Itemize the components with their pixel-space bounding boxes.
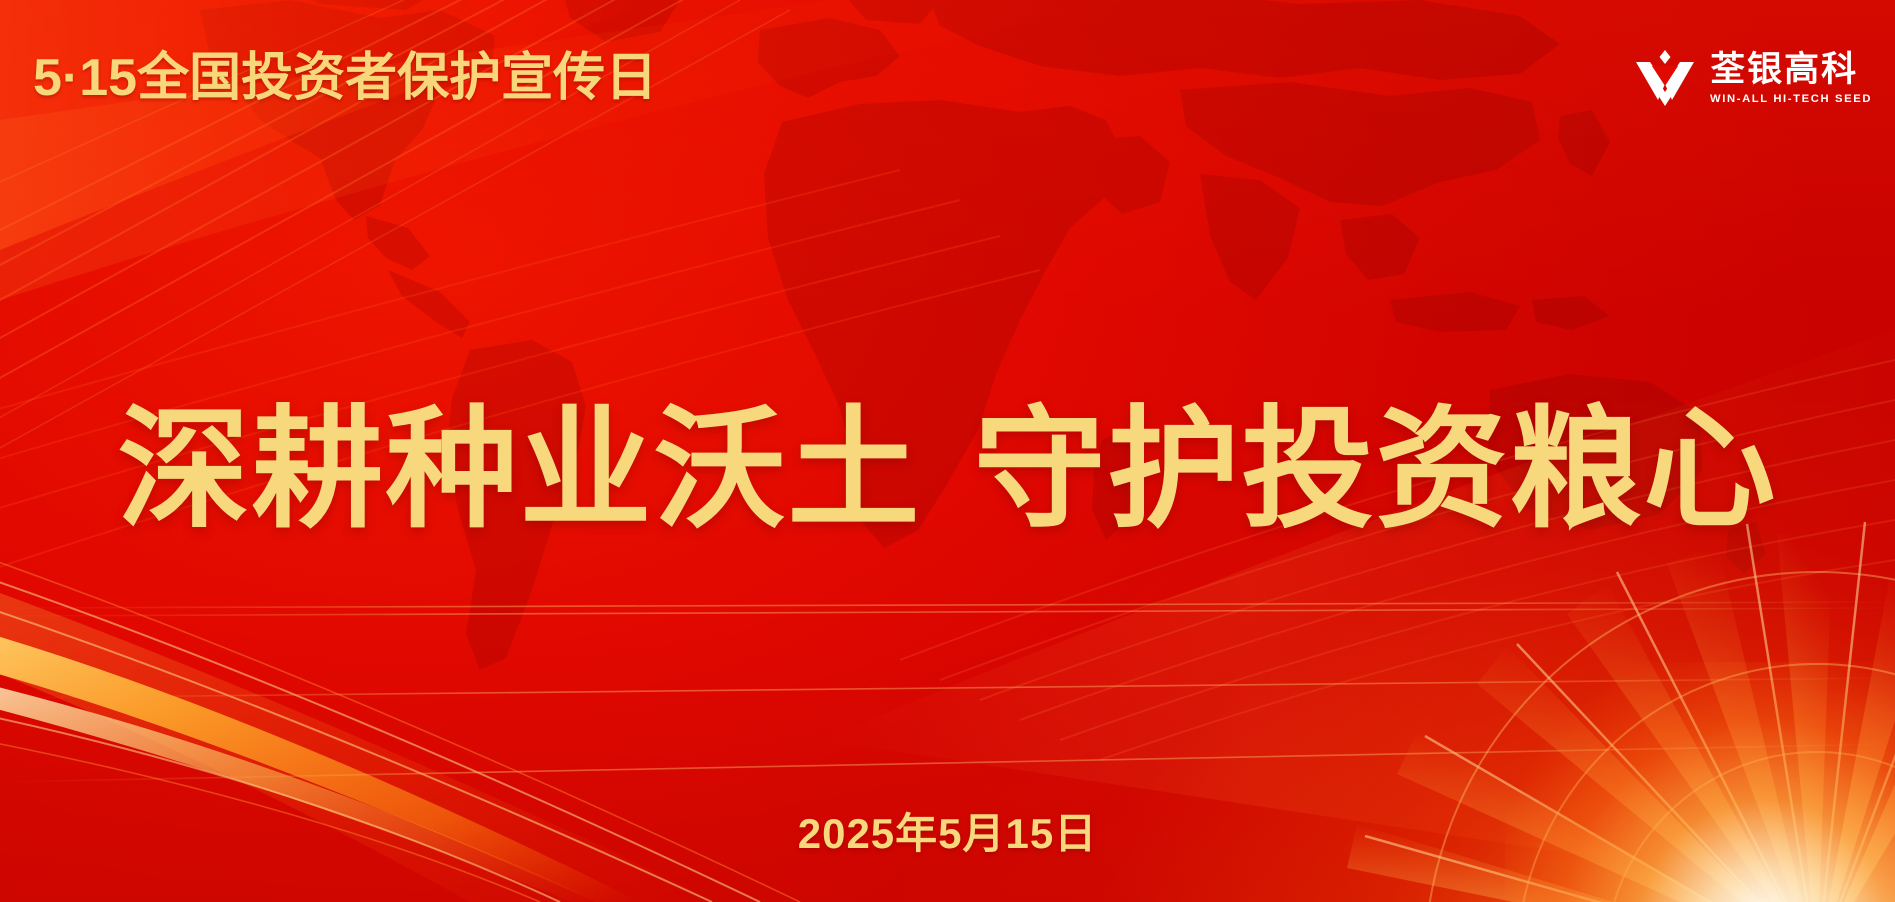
chevron-v-logo-icon (1634, 48, 1696, 110)
headline-part-1: 深耕种业沃土 (118, 396, 922, 543)
company-logo[interactable]: 荃银高科 WIN-ALL HI-TECH SEED (1634, 48, 1869, 110)
logo-text-block: 荃银高科 WIN-ALL HI-TECH SEED (1710, 52, 1869, 106)
event-date: 2025年5月15日 (0, 800, 1895, 861)
investor-protection-day-banner: 5·15全国投资者保护宣传日 荃银高科 WIN- (0, 0, 1895, 902)
logo-company-name-en: WIN-ALL HI-TECH SEED (1710, 92, 1872, 106)
logo-company-name-cn: 荃银高科 (1710, 52, 1869, 89)
main-headline: 深耕种业沃土守护投资粮心 (0, 404, 1895, 536)
headline-part-2: 守护投资粮心 (974, 396, 1778, 543)
world-map-watermark (140, 0, 1780, 730)
event-title: 5·15全国投资者保护宣传日 (33, 52, 657, 104)
